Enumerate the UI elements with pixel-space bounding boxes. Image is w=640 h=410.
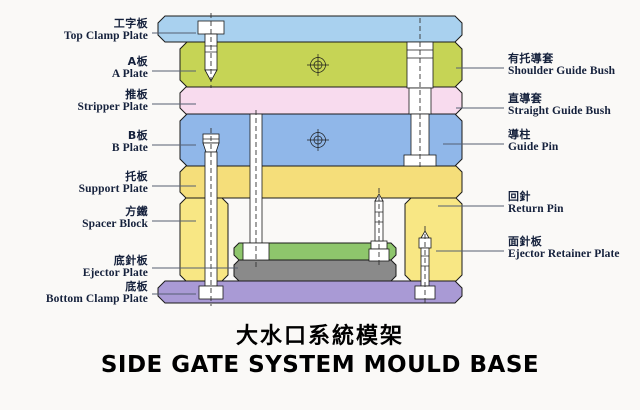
label-stripper-plate-en: Stripper Plate [78,101,149,113]
label-ejector-plate: 底針板 Ejector Plate [83,255,148,279]
label-straight-guide-bush-cn: 直導套 [508,93,611,105]
diagram-title: 大水口系統模架 SIDE GATE SYSTEM MOULD BASE [0,318,640,378]
label-ejector-plate-cn: 底針板 [83,255,148,267]
label-b-plate-cn: B板 [112,130,148,142]
label-spacer-block-en: Spacer Block [82,218,148,230]
label-top-clamp-plate: 工字板 Top Clamp Plate [64,18,148,42]
diagram-canvas: .o{stroke:#1a1a1a;stroke-width:1;} .thin… [0,0,640,410]
label-support-plate-cn: 托板 [79,171,148,183]
label-shoulder-guide-bush: 有托導套 Shoulder Guide Bush [508,53,615,77]
label-guide-pin-cn: 導柱 [508,129,558,141]
part-spacer-block-right [405,198,462,281]
label-straight-guide-bush-en: Straight Guide Bush [508,105,611,117]
label-return-pin-en: Return Pin [508,203,564,215]
label-ejector-plate-en: Ejector Plate [83,267,148,279]
label-bottom-clamp-plate-en: Bottom Clamp Plate [46,293,148,305]
label-b-plate: B板 B Plate [112,130,148,154]
label-guide-pin: 導柱 Guide Pin [508,129,558,153]
label-straight-guide-bush: 直導套 Straight Guide Bush [508,93,611,117]
part-shoulder-guide-bush [407,42,433,88]
part-ejector-plate [234,260,396,281]
label-bottom-clamp-plate-cn: 底板 [46,281,148,293]
label-return-pin: 回針 Return Pin [508,191,564,215]
label-top-clamp-plate-cn: 工字板 [64,18,148,30]
label-shoulder-guide-bush-cn: 有托導套 [508,53,615,65]
label-support-plate-en: Support Plate [79,183,148,195]
label-a-plate-en: A Plate [112,68,148,80]
label-ejector-retainer-plate: 面針板 Ejector Retainer Plate [508,236,620,260]
label-return-pin-cn: 回針 [508,191,564,203]
diagram-title-english: SIDE GATE SYSTEM MOULD BASE [0,352,640,378]
part-spacer-block-left [180,198,228,281]
label-stripper-plate: 推板 Stripper Plate [78,89,149,113]
label-a-plate-cn: A板 [112,56,148,68]
label-stripper-plate-cn: 推板 [78,89,149,101]
label-support-plate: 托板 Support Plate [79,171,148,195]
part-support-plate [180,166,462,198]
label-bottom-clamp-plate: 底板 Bottom Clamp Plate [46,281,148,305]
label-top-clamp-plate-en: Top Clamp Plate [64,30,148,42]
label-ejector-retainer-plate-en: Ejector Retainer Plate [508,248,620,260]
label-guide-pin-en: Guide Pin [508,141,558,153]
label-spacer-block-cn: 方鐵 [82,206,148,218]
label-b-plate-en: B Plate [112,142,148,154]
label-spacer-block: 方鐵 Spacer Block [82,206,148,230]
label-shoulder-guide-bush-en: Shoulder Guide Bush [508,65,615,77]
diagram-title-chinese: 大水口系統模架 [0,318,640,350]
label-a-plate: A板 A Plate [112,56,148,80]
label-ejector-retainer-plate-cn: 面針板 [508,236,620,248]
